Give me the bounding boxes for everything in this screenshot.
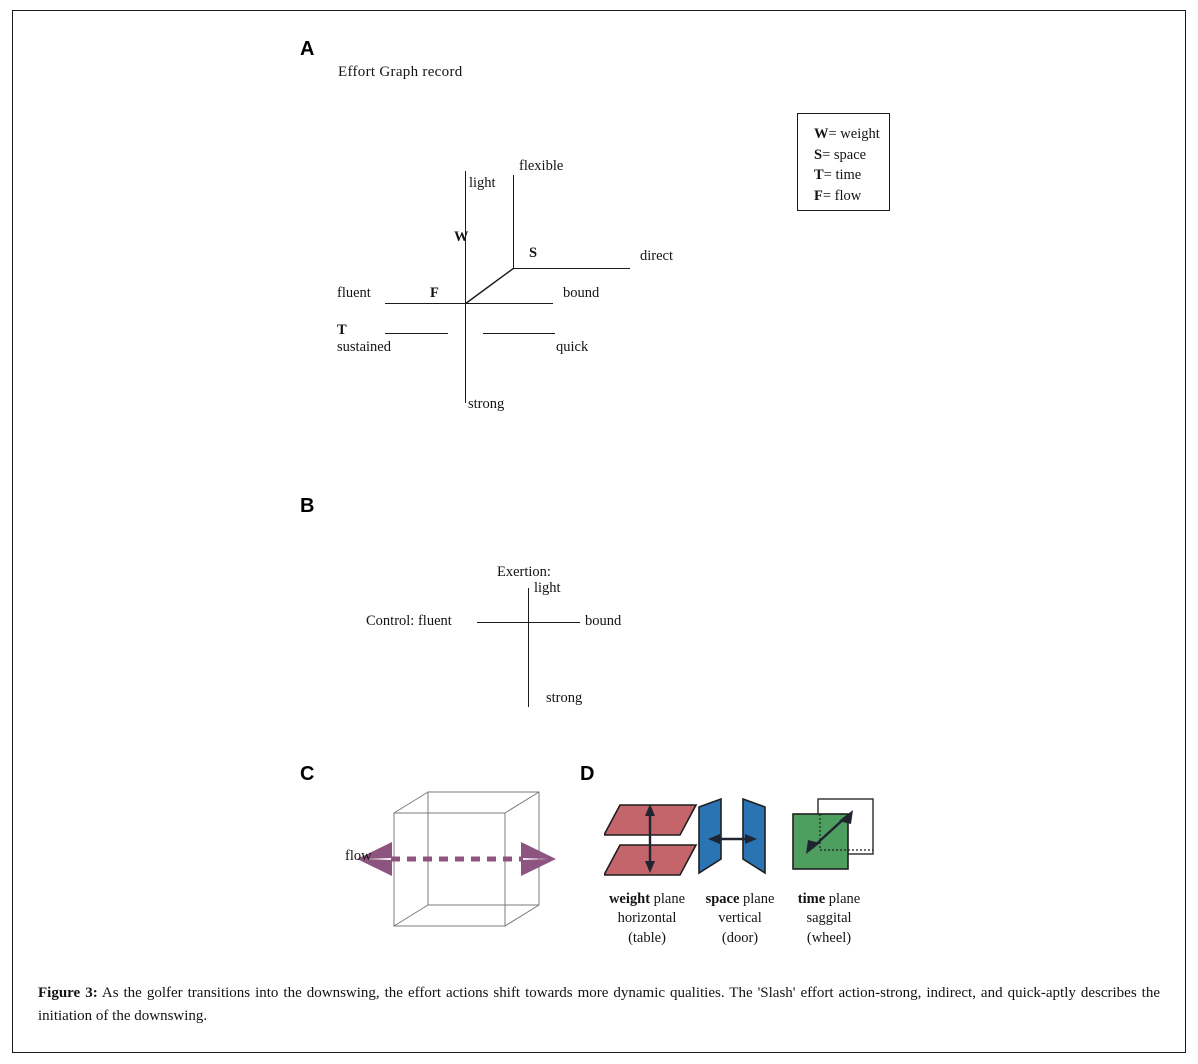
weight-plane-name: weight: [609, 891, 650, 907]
label-bound: bound: [563, 285, 599, 302]
panel-letter-d: D: [580, 763, 594, 786]
key-text-weight: = weight: [829, 126, 880, 142]
figure-caption-text: As the golfer transitions into the downs…: [38, 985, 1160, 1024]
time-plane-name: time: [798, 891, 825, 907]
time-plane-diagram: [785, 788, 885, 893]
space-plane-label: space plane vertical (door): [692, 890, 788, 948]
label-key-w: W: [454, 229, 469, 246]
key-text-flow: = flow: [823, 188, 861, 204]
time-plane-name-rest: plane: [825, 891, 860, 907]
label-light-b: light: [534, 580, 561, 597]
space-plane-label-line1: space plane: [692, 890, 788, 909]
time-plane-svg: [785, 788, 885, 888]
cube-edge-tl: [394, 792, 428, 813]
space-plane-label-line2: vertical: [692, 909, 788, 928]
key-symbol-s: S: [814, 147, 822, 163]
label-flexible: flexible: [519, 158, 563, 175]
key-symbol-t: T: [814, 167, 824, 183]
key-text-space: = space: [822, 147, 866, 163]
effort-axis-space-horizontal: [513, 268, 630, 269]
weight-plane-label-line3: (table): [592, 929, 702, 948]
effort-axis-diagonal-holder: [460, 262, 520, 315]
cube-flow-svg: [345, 780, 570, 930]
time-plane-label-line1: time plane: [781, 890, 877, 909]
figure-caption: Figure 3: As the golfer transitions into…: [38, 982, 1160, 1028]
effort-axis-flexible-vertical: [513, 175, 514, 269]
key-row-flow: F= flow: [814, 186, 877, 207]
panel-letter-c: C: [300, 763, 314, 786]
space-plane-svg: [695, 795, 785, 885]
space-plane-name-rest: plane: [739, 891, 774, 907]
time-plane-label-line3: (wheel): [781, 929, 877, 948]
weight-plane-svg: [604, 795, 704, 885]
label-flow-c: flow: [345, 848, 372, 865]
label-fluent: fluent: [337, 285, 371, 302]
panel-b-horizontal-axis: [477, 622, 580, 623]
key-row-space: S= space: [814, 145, 877, 166]
panel-c-cube-diagram: [345, 780, 570, 935]
effort-axis-time-right-segment: [483, 333, 555, 334]
label-strong-a: strong: [468, 396, 504, 413]
cube-edge-br: [505, 905, 539, 926]
space-plane-name: space: [706, 891, 740, 907]
label-strong-b: strong: [546, 690, 582, 707]
label-quick: quick: [556, 339, 588, 356]
panel-letter-a: A: [300, 38, 314, 61]
weight-plane-label-line2: horizontal: [592, 909, 702, 928]
label-light: light: [469, 175, 496, 192]
label-key-s: S: [529, 245, 537, 262]
figure-caption-label: Figure 3:: [38, 985, 98, 1001]
effort-axis-diagonal-line: [465, 268, 514, 304]
key-symbol-w: W: [814, 126, 829, 142]
time-plane-label: time plane saggital (wheel): [781, 890, 877, 948]
label-exertion-title: Exertion:: [497, 564, 551, 581]
weight-plane-label: weight plane horizontal (table): [592, 890, 702, 948]
weight-plane-diagram: [604, 795, 704, 890]
label-bound-b: bound: [585, 613, 621, 630]
effort-key-box: W= weight S= space T= time F= flow: [797, 113, 890, 211]
effort-axis-time-left-segment: [385, 333, 448, 334]
space-plane-diagram: [695, 795, 785, 890]
panel-letter-b: B: [300, 495, 314, 518]
label-key-t: T: [337, 322, 347, 339]
label-sustained: sustained: [337, 339, 391, 356]
effort-axis-diagonal-svg: [460, 262, 520, 310]
figure-3: A Effort Graph record W= weight S= space…: [0, 0, 1198, 1064]
weight-plane-label-line1: weight plane: [592, 890, 702, 909]
cube-front-face: [394, 813, 505, 926]
key-symbol-f: F: [814, 188, 823, 204]
key-row-time: T= time: [814, 165, 877, 186]
label-direct: direct: [640, 248, 673, 265]
time-plane-label-line2: saggital: [781, 909, 877, 928]
space-plane-label-line3: (door): [692, 929, 788, 948]
panel-a-title: Effort Graph record: [338, 64, 463, 81]
cube-edge-tr: [505, 792, 539, 813]
panel-b-vertical-axis: [528, 588, 529, 707]
cube-edge-bl: [394, 905, 428, 926]
key-text-time: = time: [824, 167, 862, 183]
weight-plane-name-rest: plane: [650, 891, 685, 907]
label-control-fluent: Control: fluent: [366, 613, 452, 630]
label-key-f: F: [430, 285, 439, 302]
key-row-weight: W= weight: [814, 124, 877, 145]
